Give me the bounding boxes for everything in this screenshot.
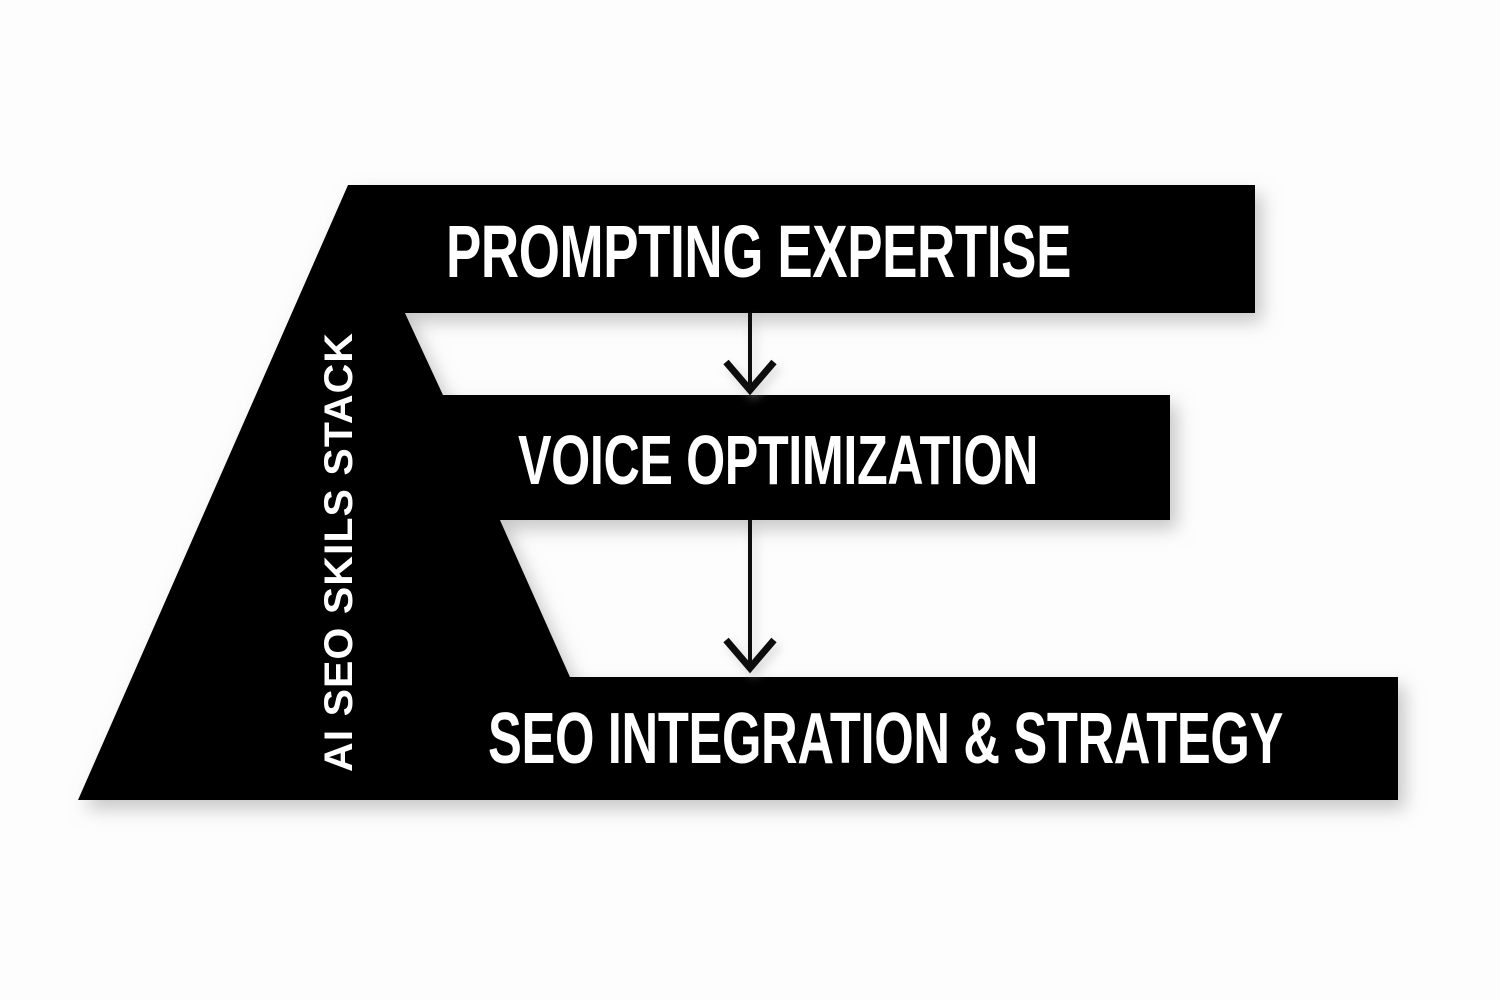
ai-seo-skils-stack-diagram: AI SEO SKILS STACK PROMPTING EXPERTISE V… (0, 0, 1500, 1000)
bar-label-prompting-expertise: PROMPTING EXPERTISE (446, 210, 1071, 293)
connector-arrow-2 (726, 520, 774, 668)
bar-label-voice-optimization: VOICE OPTIMIZATION (518, 421, 1038, 499)
spine-label: AI SEO SKILS STACK (317, 332, 361, 772)
connector-arrow-1 (726, 313, 774, 390)
bar-label-seo-integration-strategy: SEO INTEGRATION & STRATEGY (488, 699, 1283, 779)
diagram-canvas: AI SEO SKILS STACK PROMPTING EXPERTISE V… (0, 0, 1500, 1000)
